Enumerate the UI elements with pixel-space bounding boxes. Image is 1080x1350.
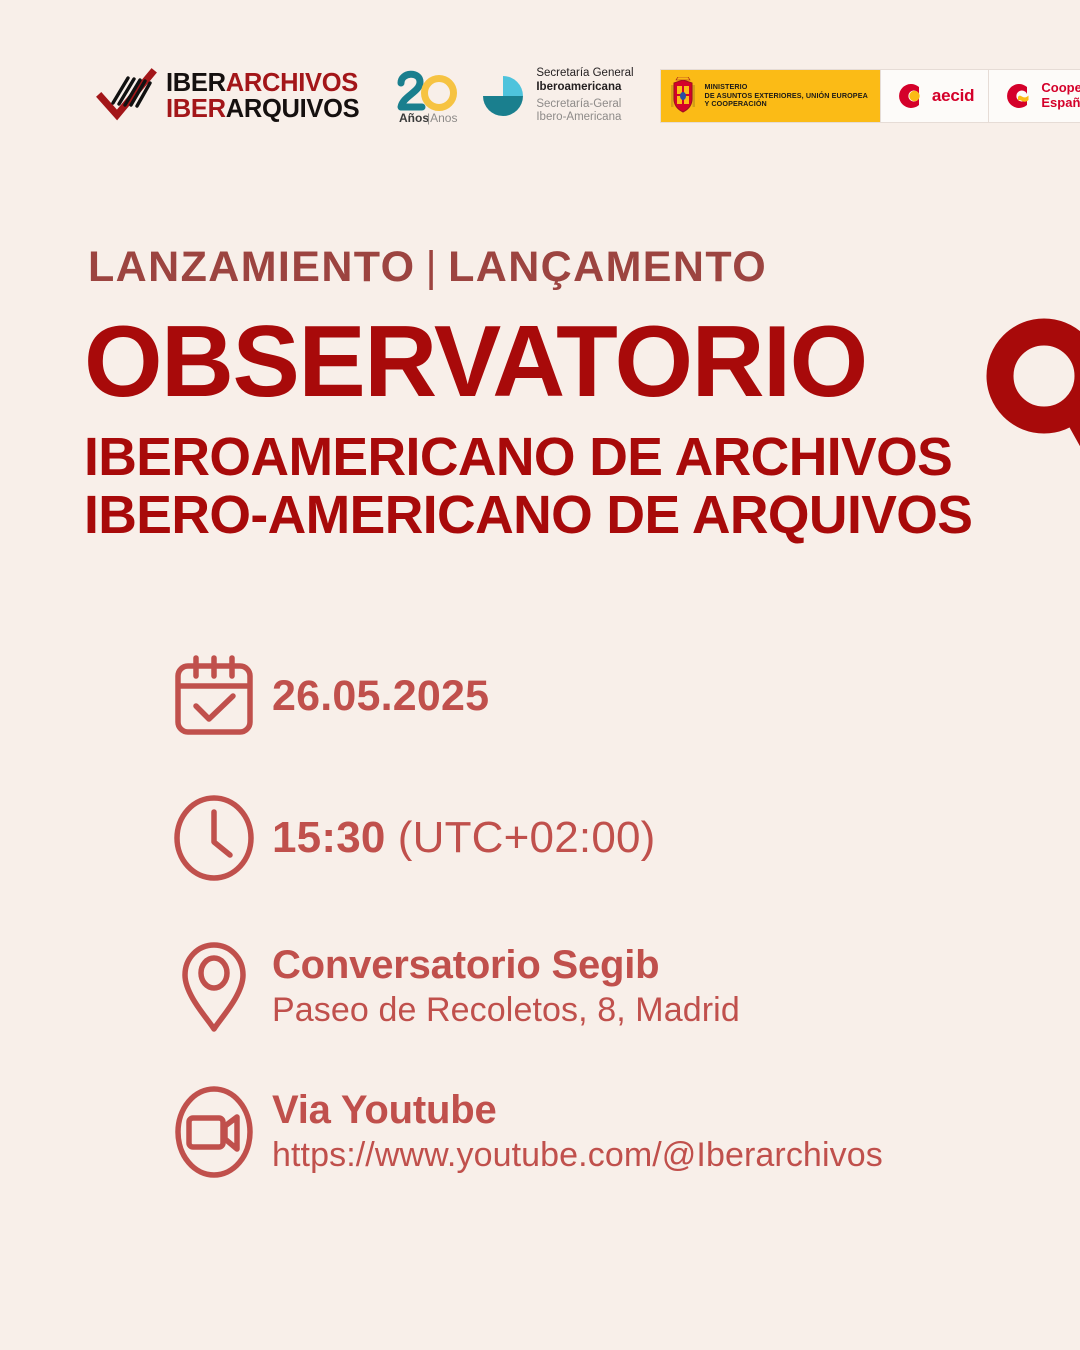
ministerio-line-3: Y COOPERACIÓN (705, 100, 868, 108)
book-check-mark-icon (95, 67, 157, 125)
venue-name: Conversatorio Segib (272, 943, 740, 988)
sponsor-logo-bar: IBERARCHIVOS IBERARQUIVOS Años |Anos Sec… (95, 55, 995, 137)
aecid-c-icon (895, 81, 925, 111)
aecid-logo: aecid (881, 70, 989, 122)
segib-line-2: Iberoamericana (536, 81, 633, 94)
segib-pinwheel-icon (479, 72, 527, 120)
stream-url[interactable]: https://www.youtube.com/@Iberarchivos (272, 1135, 883, 1176)
date-text: 26.05.2025 (272, 672, 489, 721)
location-icon-slot (168, 937, 272, 1037)
cooperacion-line-1: Cooperación (1041, 81, 1080, 96)
date-icon-slot (168, 650, 272, 742)
iberarchivos-logo: IBERARCHIVOS IBERARQUIVOS (95, 67, 359, 125)
ministerio-logo: MINISTERIO DE ASUNTOS EXTERIORES, UNIÓN … (661, 70, 881, 122)
kicker-separator: | (416, 243, 449, 291)
clock-icon (168, 792, 260, 884)
event-timezone: (UTC+02:00) (398, 813, 656, 862)
segib-line-3: Secretaría-Geral (536, 98, 633, 111)
kicker-es: LANZAMIENTO (88, 243, 416, 291)
segib-line-1: Secretaría General (536, 67, 633, 80)
event-time: 15:30 (272, 813, 386, 862)
detail-row-location: Conversatorio Segib Paseo de Recoletos, … (168, 912, 1028, 1062)
event-date: 26.05.2025 (272, 672, 489, 721)
government-logo-block: MINISTERIO DE ASUNTOS EXTERIORES, UNIÓN … (660, 69, 1080, 123)
kicker-line: LANZAMIENTO|LANÇAMENTO (88, 243, 767, 292)
video-camera-icon (168, 1084, 260, 1180)
ministerio-text: MINISTERIO DE ASUNTOS EXTERIORES, UNIÓN … (705, 83, 868, 108)
iberarchivos-wordmark: IBERARCHIVOS IBERARQUIVOS (166, 70, 359, 122)
subtitle-es: IBEROAMERICANO DE ARCHIVOS (84, 429, 1044, 487)
time-text: 15:30 (UTC+02:00) (272, 813, 656, 863)
aecid-label: aecid (932, 86, 974, 106)
segib-wordmark: Secretaría General Iberoamericana Secret… (536, 67, 633, 124)
svg-text:|Anos: |Anos (427, 111, 457, 125)
detail-row-stream[interactable]: Via Youtube https://www.youtube.com/@Ibe… (168, 1062, 1028, 1202)
iber-prefix-es: IBER (166, 69, 226, 97)
segib-logo: Secretaría General Iberoamericana Secret… (479, 67, 633, 124)
title-block: OBSERVATORIO IBEROAMERICANO DE ARCHIVOS … (84, 312, 1044, 545)
cooperacion-espanola-logo: Cooperación Española (989, 70, 1080, 122)
segib-line-4: Ibero-Americana (536, 111, 633, 124)
detail-row-time: 15:30 (UTC+02:00) (168, 764, 1028, 912)
iber-prefix-pt: IBER (166, 95, 226, 123)
cooperacion-c-icon (1003, 81, 1033, 111)
page-title: OBSERVATORIO (84, 312, 1044, 413)
event-time-line: 15:30 (UTC+02:00) (272, 813, 656, 863)
arquivos-suffix-pt: ARQUIVOS (226, 95, 360, 123)
archivos-suffix-es: ARCHIVOS (226, 69, 358, 97)
kicker-pt: LANÇAMENTO (448, 243, 767, 291)
stream-platform: Via Youtube (272, 1088, 883, 1133)
iberarchivos-line-2: IBERARQUIVOS (166, 96, 359, 122)
twenty-years-logo: Años |Anos (393, 65, 465, 127)
svg-text:Años: Años (399, 111, 429, 125)
iberarchivos-line-1: IBERARCHIVOS (166, 70, 359, 96)
location-pin-icon (168, 937, 260, 1037)
cooperacion-text: Cooperación Española (1041, 81, 1080, 110)
location-text: Conversatorio Segib Paseo de Recoletos, … (272, 943, 740, 1031)
cooperacion-line-2: Española (1041, 96, 1080, 111)
venue-address: Paseo de Recoletos, 8, Madrid (272, 990, 740, 1031)
detail-row-date: 26.05.2025 (168, 628, 1028, 764)
subtitle-pt: IBERO-AMERICANO DE ARQUIVOS (84, 487, 1044, 545)
twenty-years-icon: Años |Anos (393, 65, 465, 127)
stream-text: Via Youtube https://www.youtube.com/@Ibe… (272, 1088, 883, 1176)
time-icon-slot (168, 792, 272, 884)
spain-coat-of-arms-icon (669, 77, 697, 115)
event-details-list: 26.05.2025 15:30 (UTC+02:00) Conversator… (168, 628, 1028, 1202)
calendar-check-icon (168, 650, 260, 742)
video-icon-slot (168, 1084, 272, 1180)
